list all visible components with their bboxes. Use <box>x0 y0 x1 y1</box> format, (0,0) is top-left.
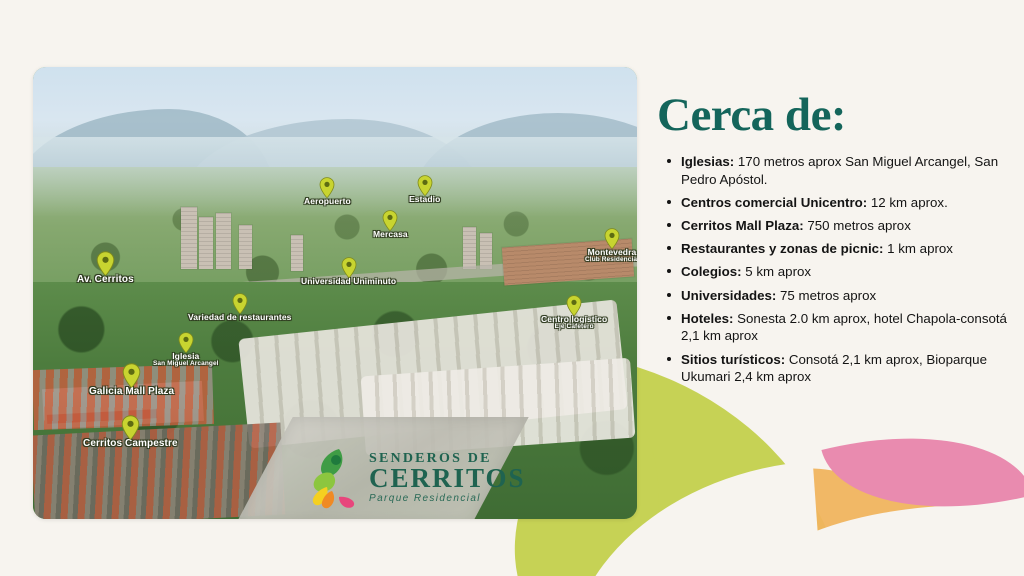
map-marker-icon <box>604 228 620 249</box>
fact-label: Sitios turísticos: <box>681 352 785 367</box>
fact-value: 5 km aprox <box>742 264 811 279</box>
map-pin-av-cerritos[interactable]: Av. Cerritos <box>77 251 134 286</box>
pink-petal-shape <box>821 403 1024 542</box>
page-title: Cerca de: <box>657 92 1010 139</box>
fact-value: 12 km aprox. <box>867 195 948 210</box>
fact-label: Universidades: <box>681 288 776 303</box>
map-pin-galicia-mall-plaza[interactable]: Galicia Mall Plaza <box>89 363 174 398</box>
map-pin-cerritos-campestre[interactable]: Cerritos Campestre <box>83 415 178 450</box>
fact-value: 750 metros aprox <box>804 218 911 233</box>
highrise-building <box>216 213 231 269</box>
info-panel: Cerca de: Iglesias: 170 metros aprox San… <box>655 92 1010 391</box>
map-pin-sublabel: Eje Cafetero <box>541 324 607 331</box>
list-item: Restaurantes y zonas de picnic: 1 km apr… <box>655 240 1010 258</box>
map-pin-label: Variedad de restaurantes <box>188 313 292 322</box>
map-marker-icon <box>566 295 582 316</box>
logo-wordmark: SENDEROS DE CERRITOS Parque Residencial <box>369 452 526 504</box>
cream-cutout-shape-2 <box>735 505 1024 576</box>
list-item: Iglesias: 170 metros aprox San Miguel Ar… <box>655 153 1010 188</box>
map-pin-mercasa[interactable]: Mercasa <box>373 210 408 239</box>
map-marker-icon <box>122 363 141 388</box>
fact-label: Centros comercial Unicentro: <box>681 195 867 210</box>
map-marker-icon <box>319 177 335 198</box>
map-pin-montevedra[interactable]: MontevedraClub Residencial <box>585 228 637 264</box>
map-marker-icon <box>96 251 115 276</box>
fact-label: Cerritos Mall Plaza: <box>681 218 804 233</box>
map-pin-label: Universidad Uniminuto <box>301 277 396 286</box>
list-item: Colegios: 5 km aprox <box>655 263 1010 281</box>
slide-canvas: SENDEROS DE CERRITOS Parque Residencial … <box>0 0 1024 576</box>
map-marker-icon <box>382 210 398 231</box>
map-pin-label: Mercasa <box>373 230 408 239</box>
list-item: Universidades: 75 metros aprox <box>655 287 1010 305</box>
map-pin-variedad-restaurantes[interactable]: Variedad de restaurantes <box>188 293 292 322</box>
highrise-building <box>199 217 213 269</box>
map-pin-label: Estadio <box>409 195 440 204</box>
map-marker-icon <box>121 415 140 440</box>
highrise-building <box>480 233 492 269</box>
map-pin-sublabel: Club Residencial <box>585 257 637 264</box>
fact-label: Restaurantes y zonas de picnic: <box>681 241 883 256</box>
map-marker-icon <box>341 257 357 278</box>
map-pin-label: Galicia Mall Plaza <box>89 387 174 398</box>
logo-line-3: Parque Residencial <box>369 494 526 504</box>
gold-shape-2 <box>681 444 960 576</box>
senderos-de-cerritos-logo: SENDEROS DE CERRITOS Parque Residencial <box>309 442 499 514</box>
list-item: Cerritos Mall Plaza: 750 metros aprox <box>655 217 1010 235</box>
aerial-map-photo: SENDEROS DE CERRITOS Parque Residencial … <box>33 67 637 519</box>
map-pin-aeropuerto[interactable]: Aeropuerto <box>304 177 351 206</box>
bird-leaf-logo-icon <box>309 447 363 509</box>
map-pin-label: Av. Cerritos <box>77 275 134 286</box>
fact-label: Hoteles: <box>681 311 733 326</box>
list-item: Hoteles: Sonesta 2.0 km aprox, hotel Cha… <box>655 310 1010 345</box>
highrise-building <box>181 207 197 269</box>
map-marker-icon <box>232 293 248 314</box>
fact-value: 75 metros aprox <box>776 288 876 303</box>
list-item: Sitios turísticos: Consotá 2,1 km aprox,… <box>655 351 1010 386</box>
map-pin-estadio[interactable]: Estadio <box>409 175 440 204</box>
fact-label: Colegios: <box>681 264 742 279</box>
highrise-building <box>463 227 476 269</box>
map-marker-icon <box>417 175 433 196</box>
map-pin-centro-logistico[interactable]: Centro logísticoEje Cafetero <box>541 295 607 331</box>
map-pin-label: Centro logísticoEje Cafetero <box>541 315 607 331</box>
map-pin-label: MontevedraClub Residencial <box>585 248 637 264</box>
map-marker-icon <box>178 332 194 353</box>
fact-label: Iglesias: <box>681 154 734 169</box>
list-item: Centros comercial Unicentro: 12 km aprox… <box>655 194 1010 212</box>
highrise-building <box>239 225 252 269</box>
logo-line-2: CERRITOS <box>369 465 526 492</box>
map-pin-universidad-uniminuto[interactable]: Universidad Uniminuto <box>301 257 396 286</box>
map-pin-label: Cerritos Campestre <box>83 439 178 450</box>
nearby-places-list: Iglesias: 170 metros aprox San Miguel Ar… <box>655 153 1010 386</box>
map-pin-label: Aeropuerto <box>304 197 351 206</box>
fact-value: 1 km aprox <box>883 241 952 256</box>
